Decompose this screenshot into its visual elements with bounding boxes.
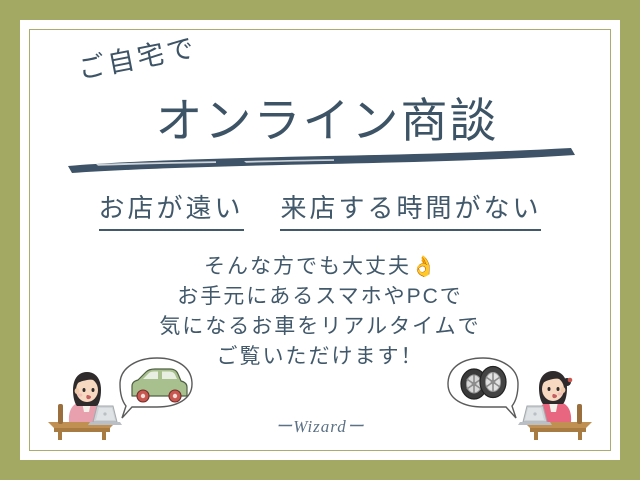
subhead-item-2: 来店する時間がない (280, 188, 541, 231)
body-line-1-text: そんな方でも大丈夫 (204, 255, 411, 278)
subhead-item-1: お店が遠い (99, 188, 244, 231)
illustration-girl-with-tires-bubble (446, 354, 596, 440)
kicker-text: ご自宅で (74, 25, 199, 86)
ok-hand-icon: 👌 (411, 256, 436, 278)
chair-icon (58, 404, 63, 424)
body-line-2: お手元にあるスマホやPCで (30, 282, 610, 312)
speech-bubble-car-icon (120, 358, 192, 418)
body-line-3: 気になるお車をリアルタイムで (30, 312, 610, 342)
body-line-1: そんな方でも大丈夫👌 (30, 252, 610, 282)
subhead-row: お店が遠い 来店する時間がない (30, 188, 610, 231)
poster-canvas: ご自宅で オンライン商談 お店が遠い 来店する時間がない そんな方でも大丈夫👌 … (30, 30, 610, 450)
chair-icon (577, 404, 582, 424)
brush-stroke-icon (66, 146, 578, 174)
speech-bubble-tires-icon (448, 358, 518, 418)
illustration-woman-with-car-bubble (44, 354, 194, 440)
poster-root: ご自宅で オンライン商談 お店が遠い 来店する時間がない そんな方でも大丈夫👌 … (0, 0, 640, 480)
page-title: オンライン商談 (30, 82, 610, 151)
